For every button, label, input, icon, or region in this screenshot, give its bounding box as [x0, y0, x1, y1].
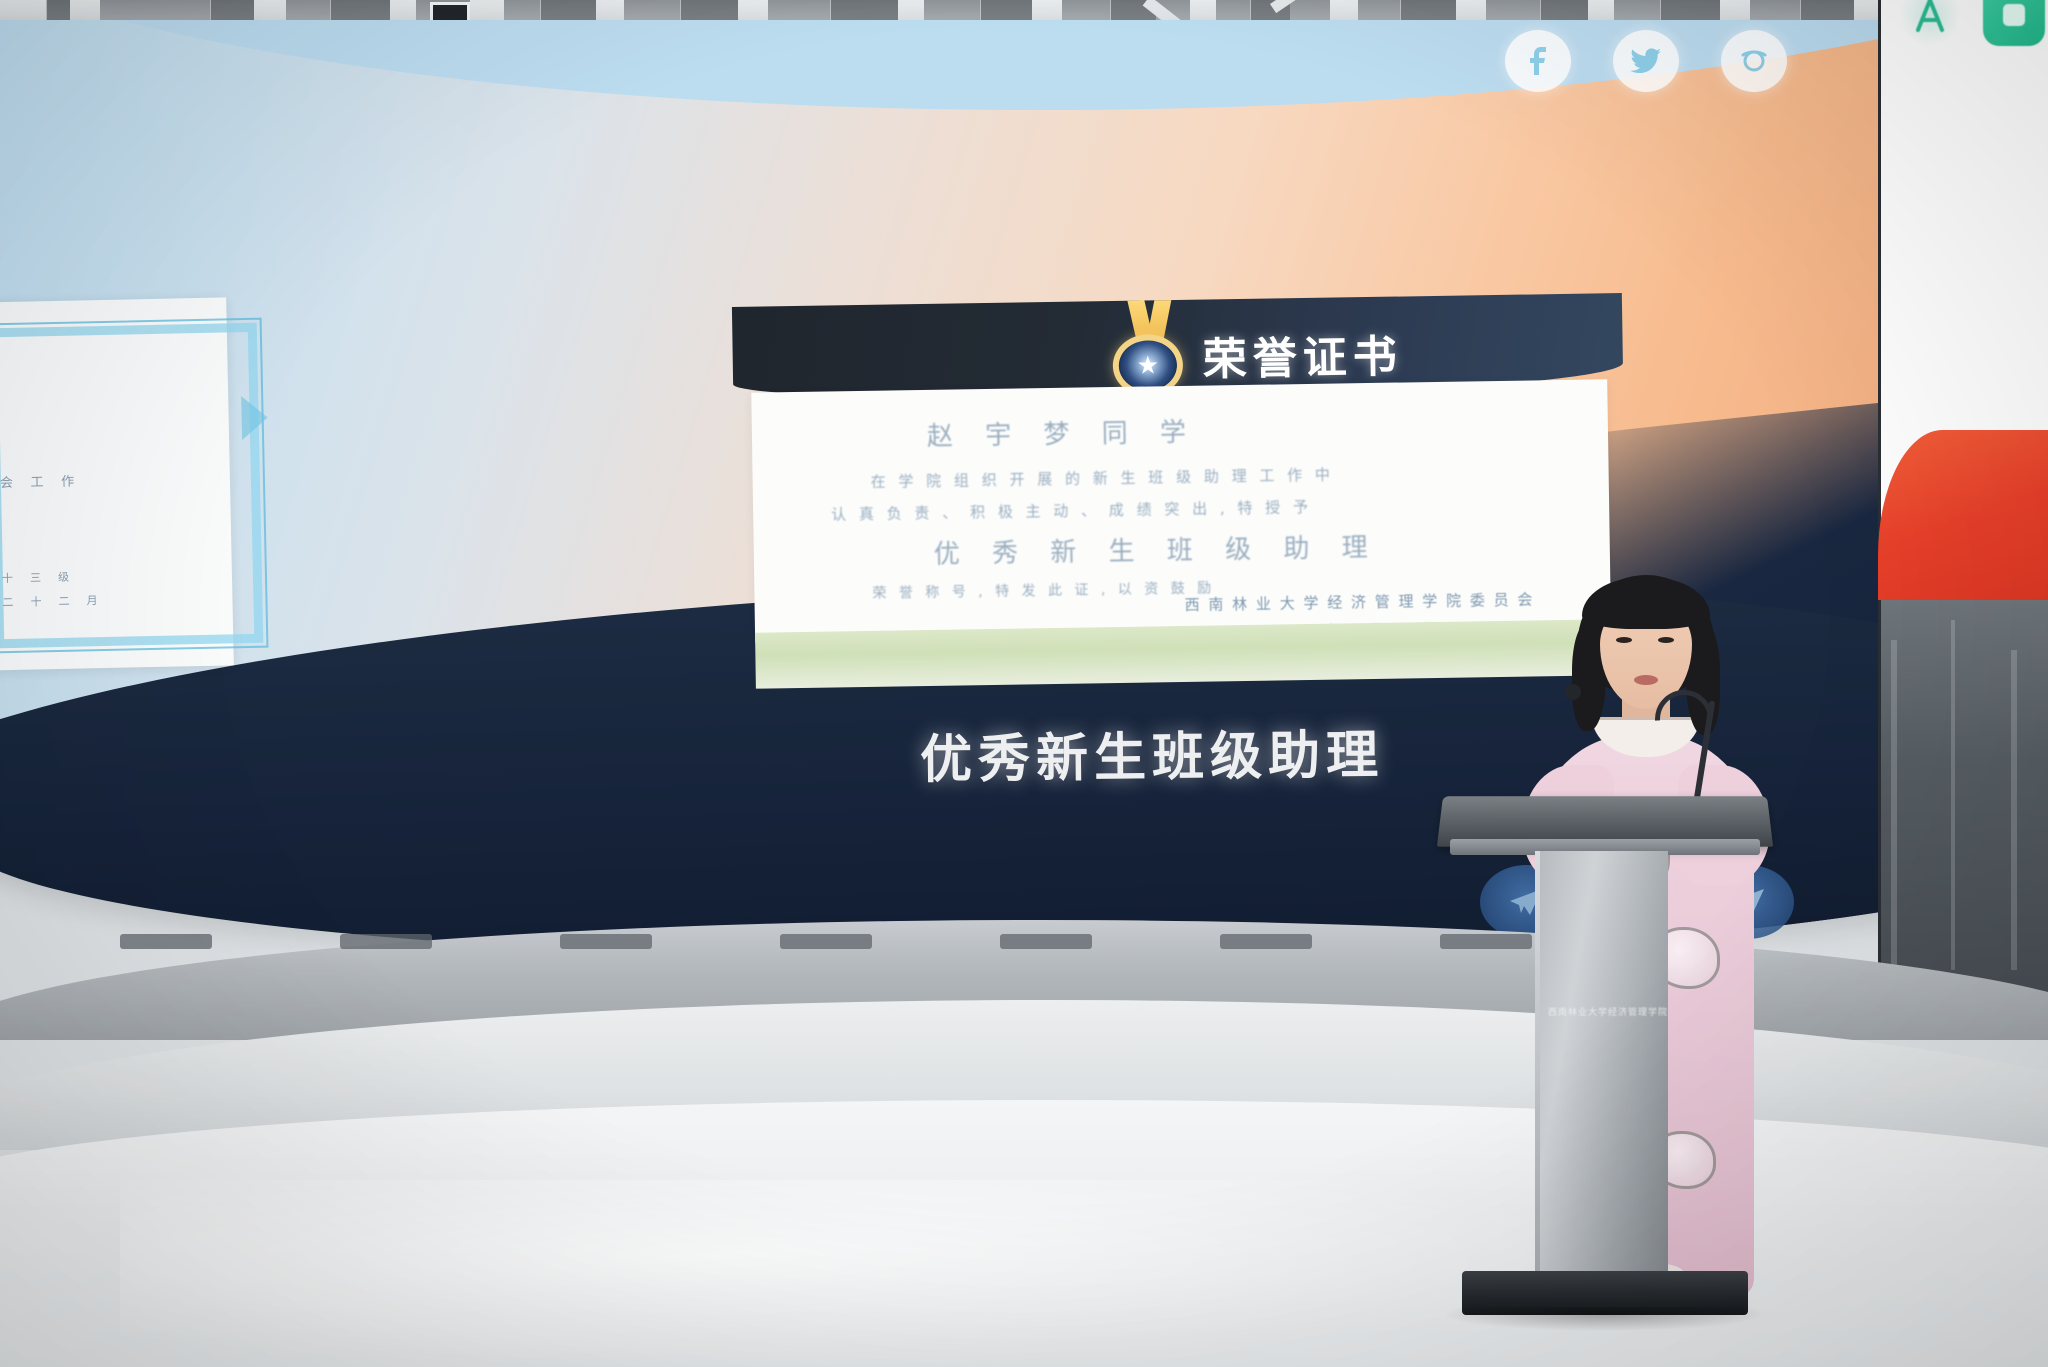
certificate-slide: 荣誉证书 赵 宇 梦 同 学 在 学 院 组 织 开 展 的 新 生 班 级 助…	[732, 293, 1628, 707]
certificate-award-title: 优 秀 新 生 班 级 助 理	[934, 527, 1380, 571]
certificate-body-line-3: 荣 誉 称 号 , 特 发 此 证 , 以 资 鼓 励	[872, 577, 1215, 602]
twitter-icon[interactable]	[1613, 30, 1679, 92]
secondary-cert-line-3: 二 十 二 月	[2, 592, 104, 610]
podium-front-label: 西南林业大学经济管理学院	[1548, 1005, 1660, 1018]
certificate-title: 荣誉证书	[1202, 320, 1403, 387]
right-wall-column	[1878, 600, 2048, 1000]
orbit-icon[interactable]	[1721, 30, 1787, 92]
letter-a-icon[interactable]	[1899, 0, 1961, 46]
right-panel-icon-row	[1899, 0, 2045, 46]
facebook-icon[interactable]	[1505, 30, 1571, 92]
stage-photograph: 会 工 作 十 三 级 二 十 二 月 荣誉证书 赵 宇 梦 同 学 在 学 院…	[0, 0, 2048, 1367]
medal-star-icon	[1110, 314, 1185, 397]
secondary-cert-line-2: 十 三 级	[2, 569, 76, 587]
certificate-issuer: 西 南 林 业 大 学 经 济 管 理 学 院 委 员 会	[1184, 588, 1534, 614]
social-icon-row	[1505, 30, 1787, 92]
certificate-body: 赵 宇 梦 同 学 在 学 院 组 织 开 展 的 新 生 班 级 助 理 工 …	[751, 379, 1611, 642]
certificate-body-line-2: 认 真 负 责 、 积 极 主 动 、 成 绩 突 出 , 特 授 予	[831, 496, 1312, 525]
slide-caption: 优秀新生班级助理	[920, 713, 1385, 793]
podium: 西南林业大学经济管理学院	[1440, 795, 1770, 1355]
secondary-certificate-slide: 会 工 作 十 三 级 二 十 二 月	[0, 297, 234, 670]
microphone-head	[1565, 684, 1581, 700]
podium-column	[1540, 851, 1668, 1277]
certificate-recipient: 赵 宇 梦 同 学	[927, 412, 1199, 453]
floor-reflection	[120, 1180, 1620, 1367]
green-app-icon[interactable]	[1983, 0, 2045, 46]
certificate-body-line-1: 在 学 院 组 织 开 展 的 新 生 班 级 助 理 工 作 中	[871, 464, 1335, 492]
secondary-cert-line-1: 会 工 作	[0, 470, 81, 491]
